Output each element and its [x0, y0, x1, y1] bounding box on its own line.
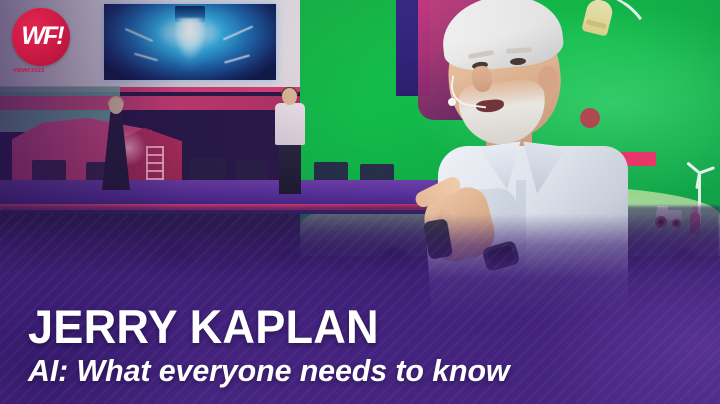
logo-wordmark: WF! — [13, 7, 71, 65]
headset-microphone-tip — [448, 98, 456, 106]
logo-hashtag: #WWF2023 — [13, 68, 44, 74]
title-block: JERRY KAPLAN AI: What everyone needs to … — [28, 303, 704, 388]
speaker-name: JERRY KAPLAN — [28, 303, 677, 350]
screen-ray — [223, 26, 253, 41]
talk-title: AI: What everyone needs to know — [28, 355, 690, 388]
event-logo: WF! #WWF2023 — [12, 8, 76, 80]
stage-speaker-man — [270, 88, 310, 194]
stage-furniture — [190, 158, 226, 182]
stage-furniture — [236, 160, 268, 182]
video-thumbnail-frame: JERRY KAPLAN AI: What everyone needs to … — [0, 0, 720, 404]
screen-ray — [224, 54, 250, 63]
